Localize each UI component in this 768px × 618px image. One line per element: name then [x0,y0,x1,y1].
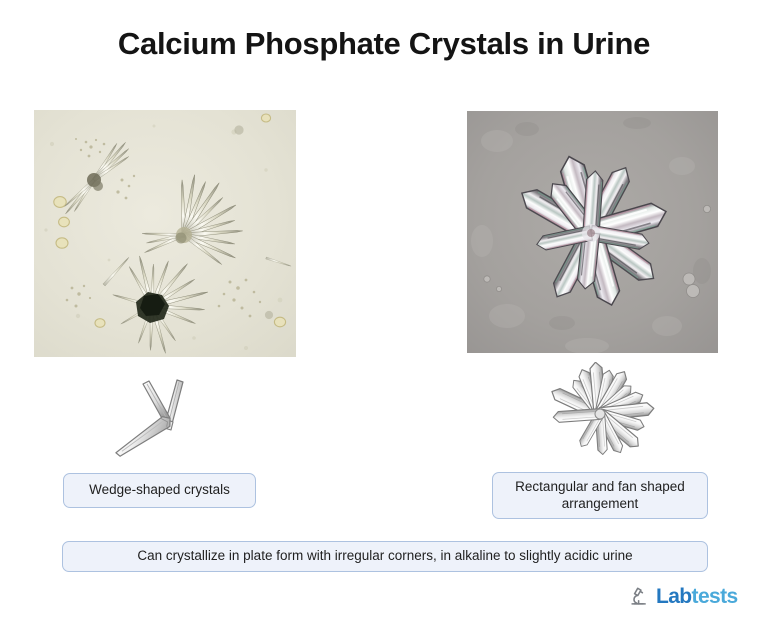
page-title: Calcium Phosphate Crystals in Urine [0,26,768,62]
labtests-logo[interactable]: Labtests [629,583,738,609]
caption-right-line2: arrangement [562,496,639,511]
logo-wordmark: Labtests [656,586,738,607]
caption-right: Rectangular and fan shaped arrangement [492,472,708,519]
micrograph-left [34,110,296,357]
logo-lab: Lab [656,585,692,608]
logo-tests: tests [692,585,738,608]
microscope-icon [629,585,651,607]
footnote-text: Can crystallize in plate form with irreg… [137,548,632,565]
caption-left: Wedge-shaped crystals [63,473,256,508]
diagram-wedge-crystals [103,368,223,460]
diagram-fan-rosette [534,362,668,457]
caption-right-line1: Rectangular and fan shaped [515,479,685,494]
caption-left-text: Wedge-shaped crystals [89,482,230,499]
caption-right-text: Rectangular and fan shaped arrangement [515,479,685,513]
micrograph-right [467,111,718,353]
footnote-box: Can crystallize in plate form with irreg… [62,541,708,572]
